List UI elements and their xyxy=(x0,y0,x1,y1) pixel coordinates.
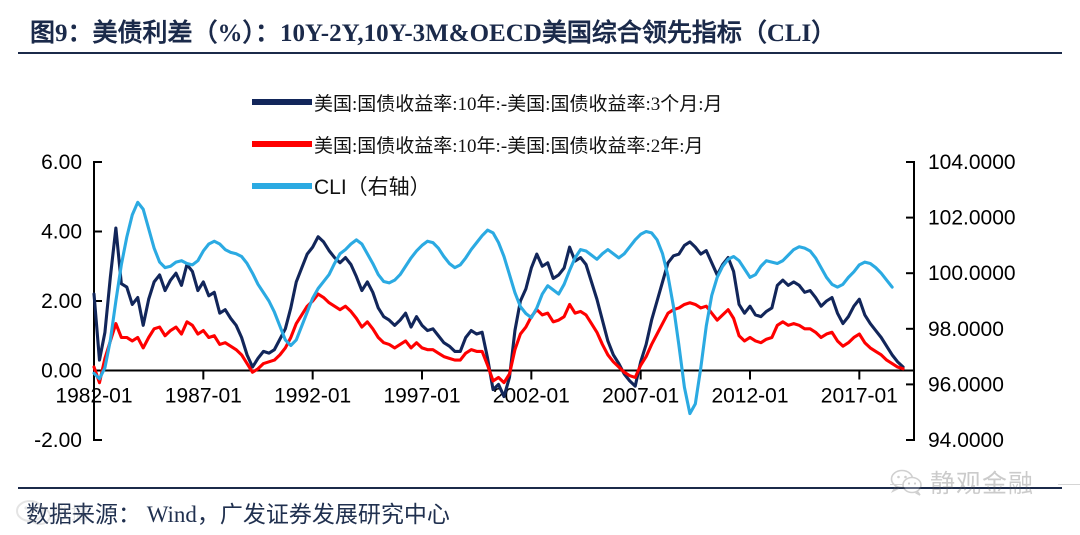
left-axis-tick-label: 4.00 xyxy=(41,221,82,244)
x-axis-tick-label: 2007-01 xyxy=(602,385,679,408)
line-chart: 美国:国债收益率:10年:-美国:国债收益率:3个月:月美国:国债收益率:10年… xyxy=(0,58,1080,483)
right-axis-tick-label: 94.0000 xyxy=(928,429,1004,452)
left-axis-tick-label: 2.00 xyxy=(41,290,82,313)
left-axis-tick-label: -2.00 xyxy=(34,429,82,452)
right-axis-tick-label: 100.0000 xyxy=(928,262,1016,285)
x-axis-tick-label: 1982-01 xyxy=(55,385,132,408)
title-divider xyxy=(18,52,1062,54)
legend-label-spread_10y_2y: 美国:国债收益率:10年:-美国:国债收益率:2年:月 xyxy=(314,135,704,157)
right-axis-spine xyxy=(906,162,914,440)
chart-legend: 美国:国债收益率:10年:-美国:国债收益率:3个月:月美国:国债收益率:10年… xyxy=(252,93,723,199)
chart-axes: -2.000.002.004.006.0094.000096.000098.00… xyxy=(34,151,1015,452)
right-axis-tick-label: 104.0000 xyxy=(928,151,1016,174)
right-axis-tick-label: 102.0000 xyxy=(928,207,1016,230)
legend-label-spread_10y_3m: 美国:国债收益率:10年:-美国:国债收益率:3个月:月 xyxy=(314,93,723,115)
series-line-10y-2y xyxy=(94,294,903,383)
source-note: 数据来源： Wind，广发证券发展研究中心 xyxy=(26,495,450,529)
x-axis-tick-label: 1997-01 xyxy=(383,385,460,408)
right-axis-tick-label: 98.0000 xyxy=(928,318,1004,341)
legend-label-cli: CLI（右轴） xyxy=(314,176,431,199)
watermark-left-rule xyxy=(890,484,904,485)
watermark-right-rule xyxy=(1058,484,1080,485)
x-axis-tick-label: 1992-01 xyxy=(274,385,351,408)
chart-container: 美国:国债收益率:10年:-美国:国债收益率:3个月:月美国:国债收益率:10年… xyxy=(0,58,1080,483)
x-axis-tick-label: 2017-01 xyxy=(821,385,898,408)
right-axis-tick-label: 96.0000 xyxy=(928,373,1004,396)
footer-divider xyxy=(18,487,1062,489)
chart-series xyxy=(94,202,903,413)
x-axis-tick-label: 1987-01 xyxy=(165,385,242,408)
page-title: 图9：美债利差（%）：10Y-2Y,10Y-3M&OECD美国综合领先指标（CL… xyxy=(30,10,1060,52)
left-axis-tick-label: 0.00 xyxy=(41,360,82,383)
left-axis-tick-label: 6.00 xyxy=(41,151,82,174)
x-axis-tick-label: 2012-01 xyxy=(711,385,788,408)
